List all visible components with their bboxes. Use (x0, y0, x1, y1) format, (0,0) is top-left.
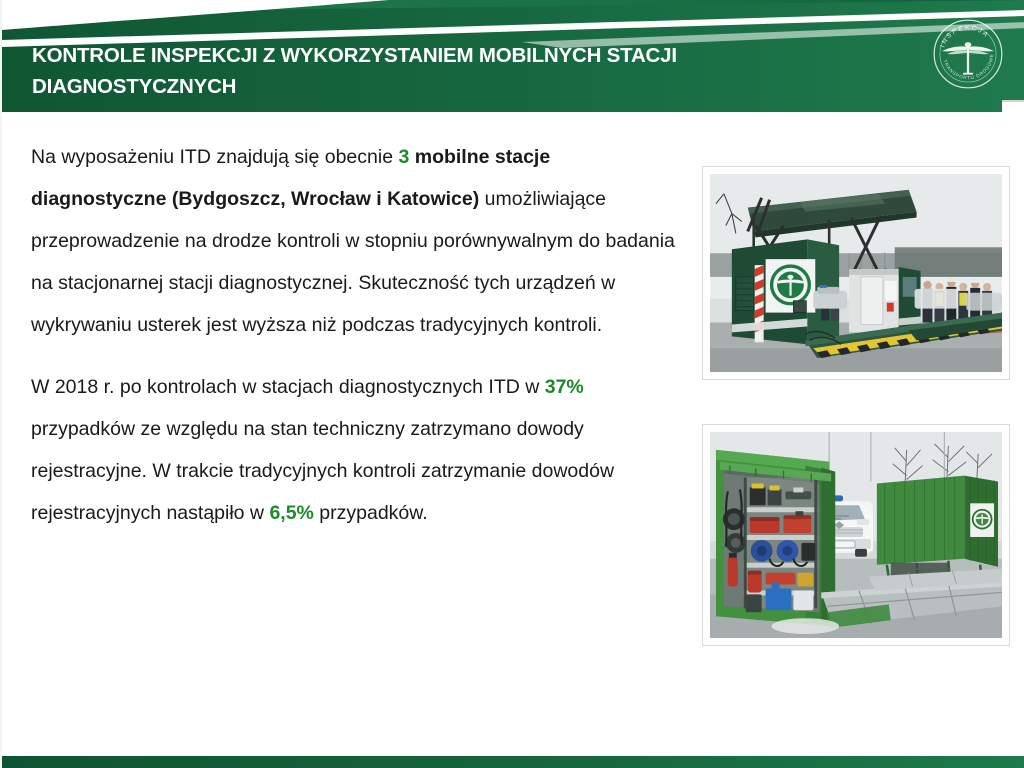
text-run-1: 37% (545, 376, 584, 398)
text-run-0: W 2018 r. po kontrolach w stacjach diagn… (31, 376, 545, 398)
text-run-1: 3 (398, 146, 409, 168)
text-run-3: 6,5% (269, 502, 313, 524)
paragraph-second: W 2018 r. po kontrolach w stacjach diagn… (31, 366, 681, 534)
photo-frame-mobile-station (702, 166, 1010, 380)
photo-frame-equipment-container (702, 424, 1010, 646)
text-run-3: umożliwiające przeprowadzenie na drodze … (31, 188, 675, 336)
slide-header-banner: KONTROLE INSPEKCJI Z WYKORZYSTANIEM MOBI… (2, 0, 1024, 116)
slide-body-text: Na wyposażeniu ITD znajdują się obecnie … (31, 136, 681, 544)
footer-accent-bar (2, 756, 1024, 768)
itd-seal-logo-icon: INSPEKCJA TRANSPORTU DROGOWEGO (932, 18, 1004, 90)
page-title: KONTROLE INSPEKCJI Z WYKORZYSTANIEM MOBI… (32, 40, 792, 102)
paragraph-first: Na wyposażeniu ITD znajdują się obecnie … (31, 136, 681, 346)
equipment-container-photo (710, 432, 1002, 638)
text-run-4: przypadków. (314, 502, 428, 524)
text-run-0: Na wyposażeniu ITD znajdują się obecnie (31, 146, 398, 168)
mobile-diagnostic-station-photo (710, 174, 1002, 372)
presentation-slide: KONTROLE INSPEKCJI Z WYKORZYSTANIEM MOBI… (0, 0, 1024, 768)
